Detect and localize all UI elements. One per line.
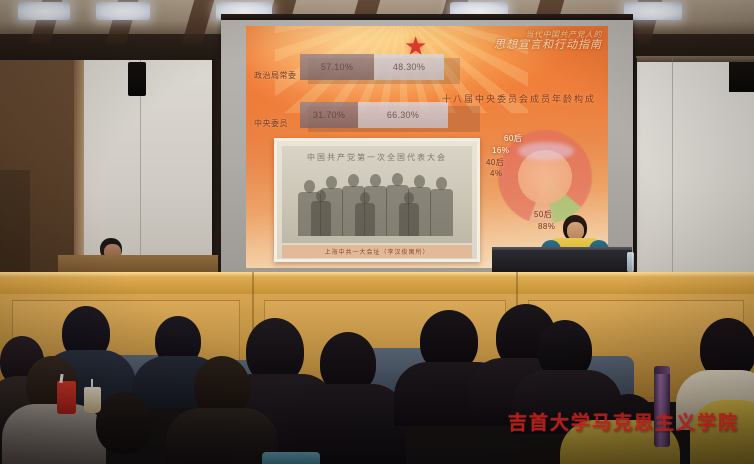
- historic-photo: 中国共产党第一次全国代表大会: [274, 138, 480, 262]
- thermos-cap: [654, 366, 670, 374]
- bar-value-label: 66.30%: [358, 102, 448, 128]
- wall-speaker-right-icon: [729, 62, 754, 92]
- presentation-slide: 当代中国共产党人的 思想宣言和行动指南 政治局常委 57.10% 48.30% …: [246, 26, 608, 268]
- bar-segment: 31.70%: [300, 102, 358, 128]
- pie-slice-label-60s: 60后: [504, 134, 522, 144]
- bar-segment: 57.10%: [300, 54, 374, 80]
- left-panel-edge: [74, 60, 84, 275]
- wall-speaker-icon: [128, 62, 146, 96]
- slide-header-line2: 思想宣言和行动指南: [452, 40, 602, 50]
- ceiling-light: [18, 2, 70, 20]
- pie-slice-label-50s: 50后: [534, 210, 552, 220]
- bar-category-label-1: 政治局常委: [254, 70, 297, 81]
- historic-photo-image: 中国共产党第一次全国代表大会: [282, 146, 472, 243]
- ceiling-light: [96, 2, 150, 20]
- bar-category-label-2: 中央委员: [254, 118, 288, 129]
- pie-label-text: 50后: [534, 210, 552, 219]
- left-wood-panel-lower: [0, 170, 30, 275]
- historic-photo-caption: 上海中共一大会址（李汉俊寓所）: [282, 245, 472, 258]
- bar-segment: 48.30%: [374, 54, 444, 80]
- water-bottle: [627, 252, 634, 272]
- audience: [0, 300, 754, 464]
- pie-value-text: 16%: [492, 146, 509, 155]
- pie-slice-label-40s: 40后: [486, 158, 504, 168]
- pie-slice-value-50s: 88%: [538, 222, 555, 232]
- pie-chart-highlight: [518, 142, 574, 160]
- drink-cup: [84, 387, 101, 413]
- pie-chart-title: 十八届中央委员会成员年龄构成: [442, 92, 596, 105]
- pie-slice-value-60s: 16%: [492, 146, 509, 156]
- left-dark-strip: [212, 58, 221, 276]
- bar-value-label: 57.10%: [300, 54, 374, 80]
- slide-header: 当代中国共产党人的 思想宣言和行动指南: [452, 30, 602, 50]
- right-wall-seam: [672, 58, 673, 278]
- pie-value-text: 4%: [490, 169, 502, 178]
- pie-slice-value-40s: 4%: [490, 169, 502, 179]
- pie-label-text: 60后: [504, 134, 522, 143]
- audience-head: [96, 392, 152, 454]
- pie-label-text: 40后: [486, 158, 504, 167]
- bar-segment: 66.30%: [358, 102, 448, 128]
- bar-value-label: 48.30%: [374, 54, 444, 80]
- lecture-hall-photo: 当代中国共产党人的 思想宣言和行动指南 政治局常委 57.10% 48.30% …: [0, 0, 754, 464]
- pie-value-text: 88%: [538, 222, 555, 231]
- stage-edge-highlight: [0, 272, 754, 277]
- watermark: 吉首大学马克思主义学院: [508, 408, 739, 435]
- blue-container: [262, 452, 320, 464]
- bar-value-label: 31.70%: [300, 102, 358, 128]
- audience-shoulders: [2, 404, 106, 464]
- historic-photo-title: 中国共产党第一次全国代表大会: [294, 152, 460, 164]
- red-cup: [57, 381, 76, 414]
